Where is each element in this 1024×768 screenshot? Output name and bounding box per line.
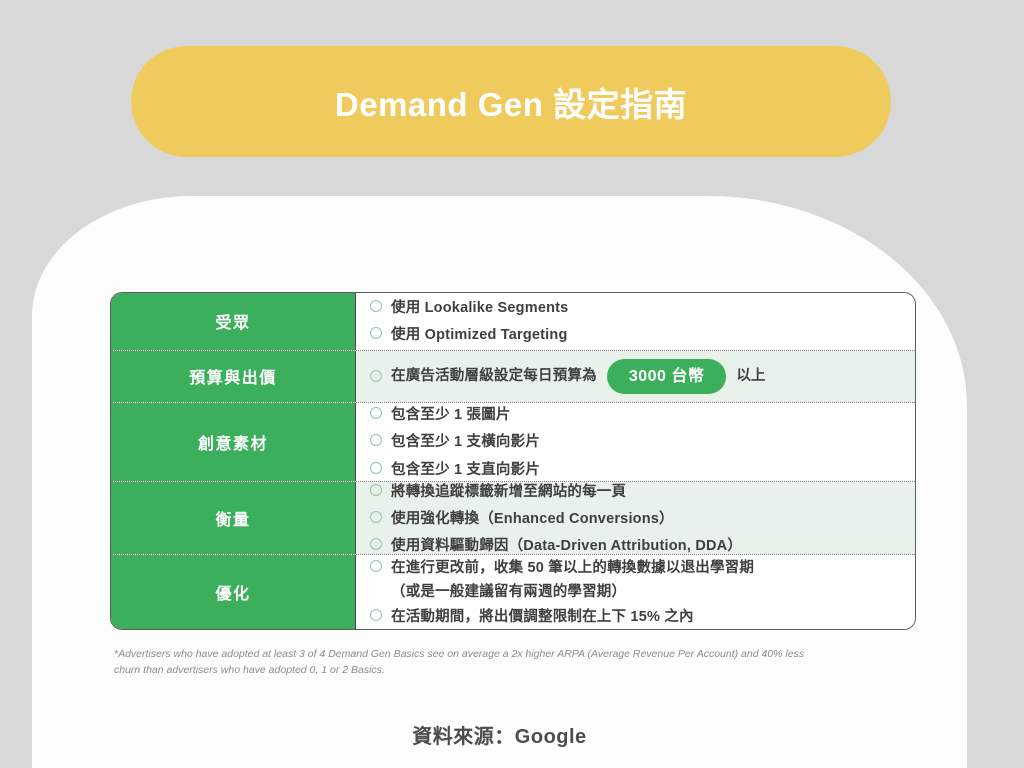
checklist-item-label: 包含至少 1 支橫向影片 xyxy=(391,434,540,450)
checkbox-circle-icon[interactable] xyxy=(370,462,382,474)
table-row: 預算與出價在廣告活動層級設定每日預算為3000 台幣以上 xyxy=(111,351,915,403)
row-items-4: 在進行更改前，收集 50 筆以上的轉換數據以退出學習期（或是一般建議留有兩週的學… xyxy=(356,555,915,629)
row-label-3: 衡量 xyxy=(111,482,356,554)
checklist-item[interactable]: 包含至少 1 張圖片 xyxy=(370,403,915,426)
checklist-item-label: 在活動期間，將出價調整限制在上下 15% 之內 xyxy=(391,609,694,625)
checklist-item[interactable]: 在廣告活動層級設定每日預算為3000 台幣以上 xyxy=(370,359,915,394)
checkbox-circle-icon[interactable] xyxy=(370,370,382,382)
page-title: Demand Gen 設定指南 xyxy=(335,78,687,126)
row-label-1: 預算與出價 xyxy=(111,351,356,402)
checkbox-circle-icon[interactable] xyxy=(370,484,382,496)
checklist-table: 受眾使用 Lookalike Segments使用 Optimized Targ… xyxy=(110,292,916,630)
source-attribution: 資料來源：Google xyxy=(32,720,967,749)
table-row: 衡量將轉換追蹤標籤新增至網站的每一頁使用強化轉換（Enhanced Conver… xyxy=(111,482,915,555)
checklist-item-label: 在進行更改前，收集 50 筆以上的轉換數據以退出學習期 xyxy=(391,560,754,576)
checklist-item-subline: （或是一般建議留有兩週的學習期） xyxy=(391,582,915,603)
checklist-item[interactable]: 在進行更改前，收集 50 筆以上的轉換數據以退出學習期 xyxy=(370,556,915,579)
checklist-item[interactable]: 使用資料驅動歸因（Data-Driven Attribution, DDA） xyxy=(370,534,915,557)
row-label-2: 創意素材 xyxy=(111,403,356,482)
row-label-4: 優化 xyxy=(111,555,356,629)
row-label-0: 受眾 xyxy=(111,293,356,350)
row-items-2: 包含至少 1 張圖片包含至少 1 支橫向影片包含至少 1 支直向影片 xyxy=(356,403,915,482)
checklist-item-label: 使用強化轉換（Enhanced Conversions） xyxy=(391,511,674,527)
checkbox-circle-icon[interactable] xyxy=(370,609,382,621)
checklist-item-label: 使用資料驅動歸因（Data-Driven Attribution, DDA） xyxy=(391,538,742,554)
checklist-item-prefix: 在廣告活動層級設定每日預算為 xyxy=(391,366,597,387)
checkbox-circle-icon[interactable] xyxy=(370,300,382,312)
content-card: 受眾使用 Lookalike Segments使用 Optimized Targ… xyxy=(32,196,967,768)
row-items-3: 將轉換追蹤標籤新增至網站的每一頁使用強化轉換（Enhanced Conversi… xyxy=(356,482,915,554)
checklist-item[interactable]: 使用 Lookalike Segments xyxy=(370,296,915,319)
checklist-item-label: 使用 Lookalike Segments xyxy=(391,300,568,316)
checklist-item[interactable]: 在活動期間，將出價調整限制在上下 15% 之內 xyxy=(370,605,915,628)
table-row: 創意素材包含至少 1 張圖片包含至少 1 支橫向影片包含至少 1 支直向影片 xyxy=(111,403,915,483)
title-banner: Demand Gen 設定指南 xyxy=(131,46,891,157)
checkbox-circle-icon[interactable] xyxy=(370,538,382,550)
table-row: 優化在進行更改前，收集 50 筆以上的轉換數據以退出學習期（或是一般建議留有兩週… xyxy=(111,555,915,629)
checklist-item-label: 包含至少 1 支直向影片 xyxy=(391,462,540,478)
checkbox-circle-icon[interactable] xyxy=(370,327,382,339)
checklist-item[interactable]: 使用 Optimized Targeting xyxy=(370,323,915,346)
checkbox-circle-icon[interactable] xyxy=(370,560,382,572)
budget-amount-badge: 3000 台幣 xyxy=(607,359,727,394)
checklist-item-label: 包含至少 1 張圖片 xyxy=(391,407,511,423)
checklist-item-label: 將轉換追蹤標籤新增至網站的每一頁 xyxy=(391,484,626,500)
table-row: 受眾使用 Lookalike Segments使用 Optimized Targ… xyxy=(111,293,915,351)
row-items-1: 在廣告活動層級設定每日預算為3000 台幣以上 xyxy=(356,351,915,402)
checklist-item-suffix: 以上 xyxy=(736,366,765,387)
checkbox-circle-icon[interactable] xyxy=(370,434,382,446)
checkbox-circle-icon[interactable] xyxy=(370,511,382,523)
footnote-text: *Advertisers who have adopted at least 3… xyxy=(114,646,824,679)
checklist-item-label: 使用 Optimized Targeting xyxy=(391,327,568,343)
checklist-item[interactable]: 包含至少 1 支直向影片 xyxy=(370,458,915,481)
checklist-item[interactable]: 包含至少 1 支橫向影片 xyxy=(370,430,915,453)
row-items-0: 使用 Lookalike Segments使用 Optimized Target… xyxy=(356,293,915,350)
checklist-item[interactable]: 將轉換追蹤標籤新增至網站的每一頁 xyxy=(370,480,915,503)
checkbox-circle-icon[interactable] xyxy=(370,407,382,419)
checklist-item[interactable]: 使用強化轉換（Enhanced Conversions） xyxy=(370,507,915,530)
